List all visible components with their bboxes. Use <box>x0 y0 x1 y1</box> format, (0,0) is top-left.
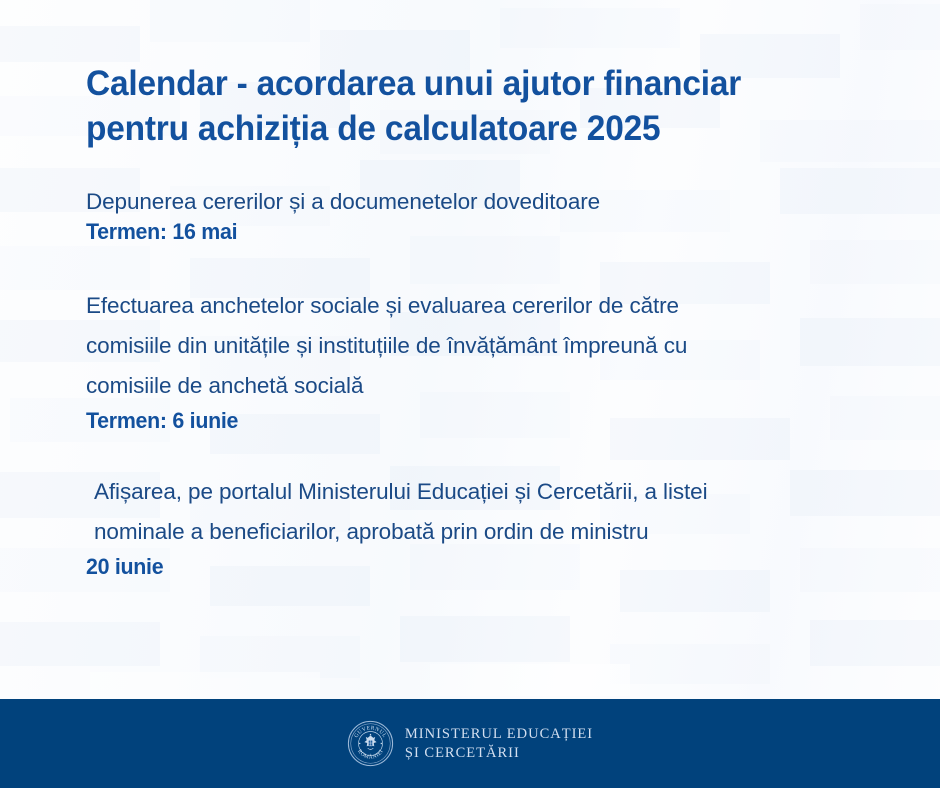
step-description-line: Afișarea, pe portalul Ministerului Educa… <box>94 472 854 512</box>
step-deadline: 20 iunie <box>86 552 816 581</box>
calendar-steps-list: Depunerea cererilor și a documenetelor d… <box>86 188 854 581</box>
step-description-line: comisiile de anchetă socială <box>86 366 854 406</box>
poster-root: Calendar - acordarea unui ajutor financi… <box>0 0 940 788</box>
step-deadline: Termen: 6 iunie <box>86 406 816 435</box>
calendar-step-depunerea-cererilor: Depunerea cererilor și a documenetelor d… <box>86 188 854 247</box>
step-description-line: Depunerea cererilor și a documenetelor d… <box>86 188 854 216</box>
ministry-name-line-2: ȘI CERCETĂRII <box>405 744 593 762</box>
ministry-name: MINISTERUL EDUCAȚIEI ȘI CERCETĂRII <box>405 725 593 762</box>
poster-content: Calendar - acordarea unui ajutor financi… <box>0 0 940 581</box>
ministry-name-line-1: MINISTERUL EDUCAȚIEI <box>405 725 593 743</box>
step-deadline: Termen: 16 mai <box>86 217 816 246</box>
ministry-logo: GUVERNUL ROMÂNIEI MINISTERUL EDUCAȚIEI Ș… <box>347 720 593 767</box>
step-description-line: nominale a beneficiarilor, aprobată prin… <box>94 512 854 552</box>
svg-text:ROMÂNIEI: ROMÂNIEI <box>356 749 385 761</box>
calendar-step-afisarea-listei: Afișarea, pe portalul Ministerului Educa… <box>86 472 854 581</box>
page-title-line-1: Calendar - acordarea unui ajutor financi… <box>86 62 819 107</box>
page-title-line-2: pentru achiziția de calculatoare 2025 <box>86 107 819 152</box>
calendar-step-anchete-sociale: Efectuarea anchetelor sociale și evaluar… <box>86 286 854 435</box>
footer-bar: GUVERNUL ROMÂNIEI MINISTERUL EDUCAȚIEI Ș… <box>0 699 940 788</box>
page-title: Calendar - acordarea unui ajutor financi… <box>86 0 819 152</box>
guvernul-romaniei-seal-icon: GUVERNUL ROMÂNIEI <box>347 720 394 767</box>
step-description-line: Efectuarea anchetelor sociale și evaluar… <box>86 286 854 326</box>
step-description-line: comisiile din unitățile și instituțiile … <box>86 326 854 366</box>
